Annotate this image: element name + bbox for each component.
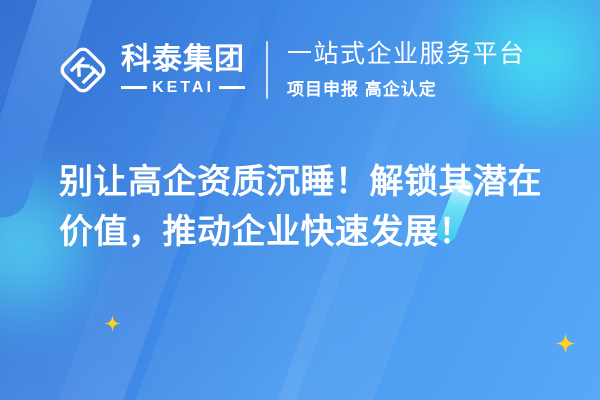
brand-text: 科泰集团 KETAI bbox=[121, 45, 245, 96]
header-tagline: 一站式企业服务平台 项目申报 高企认定 bbox=[287, 40, 526, 101]
brand-rule-left bbox=[121, 86, 147, 89]
banner-header: 科泰集团 KETAI 一站式企业服务平台 项目申报 高企认定 bbox=[0, 0, 600, 140]
header-divider bbox=[266, 41, 268, 99]
tagline-sub: 项目申报 高企认定 bbox=[287, 75, 526, 100]
ketai-diamond-kt-logo-icon bbox=[55, 42, 111, 98]
brand-rule-right bbox=[219, 86, 245, 89]
sparkle-left-icon bbox=[104, 315, 121, 332]
tagline-main: 一站式企业服务平台 bbox=[287, 40, 526, 69]
brand-lockup: 科泰集团 KETAI bbox=[55, 42, 245, 98]
brand-name-en-row: KETAI bbox=[121, 80, 245, 96]
promo-banner: 科泰集团 KETAI 一站式企业服务平台 项目申报 高企认定 别让高企资质沉睡！… bbox=[0, 0, 600, 400]
brand-name-cn: 科泰集团 bbox=[121, 45, 245, 75]
brand-name-en: KETAI bbox=[152, 80, 214, 96]
sparkle-right-icon bbox=[555, 333, 576, 354]
page-title: 别让高企资质沉睡！解锁其潜在价值，推动企业快速发展！ bbox=[59, 158, 564, 257]
